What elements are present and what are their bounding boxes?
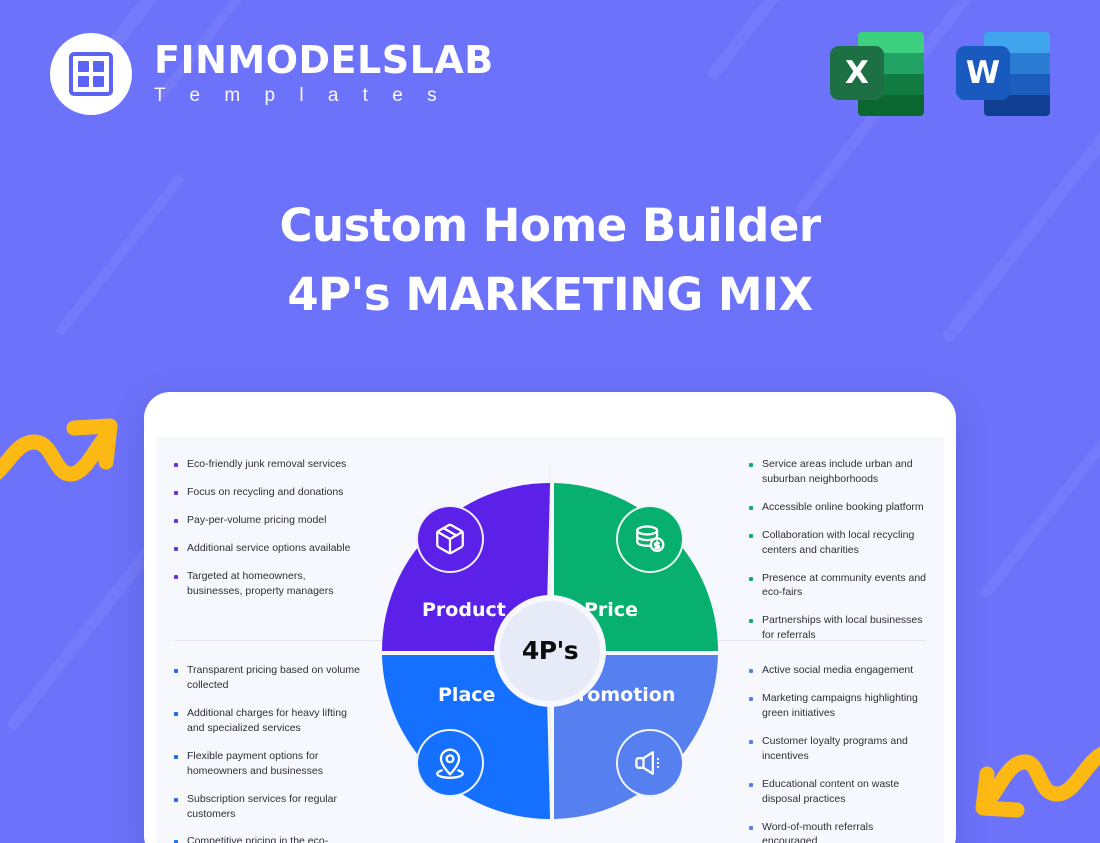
price-bullet-list: Service areas include urban and suburban… xyxy=(725,437,944,643)
list-item: Marketing campaigns highlighting green i… xyxy=(749,691,930,721)
list-item-text: Pay-per-volume pricing model xyxy=(187,513,326,528)
list-item-text: Partnerships with local businesses for r… xyxy=(762,613,930,643)
list-item: Accessible online booking platform xyxy=(749,500,930,515)
bullet-dot-icon xyxy=(174,491,178,495)
segment-label-price: Price xyxy=(584,599,638,621)
list-item-text: Eco-friendly junk removal services xyxy=(187,457,346,472)
coins-dollar-icon[interactable] xyxy=(616,505,684,573)
list-item-text: Accessible online booking platform xyxy=(762,500,924,515)
brand-subtitle: T e m p l a t e s xyxy=(154,85,494,107)
list-item-text: Targeted at homeowners, businesses, prop… xyxy=(187,569,361,599)
wheel-center-label: 4P's xyxy=(522,636,578,665)
grid-squares-icon xyxy=(69,52,113,96)
bullet-dot-icon xyxy=(749,463,753,467)
list-item-text: Subscription services for regular custom… xyxy=(187,792,361,822)
title-block: Custom Home Builder 4P's MARKETING MIX xyxy=(0,196,1100,325)
product-bullet-list: Eco-friendly junk removal services Focus… xyxy=(156,437,375,643)
four-ps-wheel: Product Price Place Promotion xyxy=(376,477,724,825)
bullet-dot-icon xyxy=(174,669,178,673)
list-item-text: Educational content on waste disposal pr… xyxy=(762,777,930,807)
word-letter-badge: W xyxy=(956,46,1010,100)
bullet-dot-icon xyxy=(174,547,178,551)
segment-label-product: Product xyxy=(422,599,506,621)
coins-dollar-glyph xyxy=(633,522,667,556)
bullet-dot-icon xyxy=(749,740,753,744)
list-item-text: Transparent pricing based on volume coll… xyxy=(187,663,361,693)
bullet-dot-icon xyxy=(749,577,753,581)
list-item-text: Additional charges for heavy lifting and… xyxy=(187,706,361,736)
megaphone-icon[interactable] xyxy=(616,729,684,797)
list-item-text: Word-of-mouth referrals encouraged xyxy=(762,820,930,843)
list-item-text: Competitive pricing in the eco-friendly … xyxy=(187,834,361,843)
squiggle-arrow-up-right-icon xyxy=(0,400,127,495)
package-box-icon[interactable] xyxy=(416,505,484,573)
bullet-dot-icon xyxy=(174,798,178,802)
page-subtitle: 4P's MARKETING MIX xyxy=(0,265,1100,324)
list-item-text: Active social media engagement xyxy=(762,663,913,678)
logo-mark-circle xyxy=(50,33,132,115)
list-item: Eco-friendly junk removal services xyxy=(174,457,346,472)
bullet-dot-icon xyxy=(174,463,178,467)
list-item-text: Customer loyalty programs and incentives xyxy=(762,734,930,764)
word-file-icon[interactable]: W xyxy=(956,28,1050,120)
slide-canvas: FINMODELSLAB T e m p l a t e s X W xyxy=(0,0,1100,843)
bullet-dot-icon xyxy=(749,669,753,673)
wheel-column: Product Price Place Promotion xyxy=(375,437,725,843)
place-bullet-list: Transparent pricing based on volume coll… xyxy=(156,643,375,843)
brand-name: FINMODELSLAB xyxy=(154,41,494,81)
excel-file-icon[interactable]: X xyxy=(830,28,924,120)
list-item: Partnerships with local businesses for r… xyxy=(749,613,930,643)
list-item: Additional service options available xyxy=(174,541,350,556)
bullet-dot-icon xyxy=(749,783,753,787)
promotion-bullet-list: Active social media engagement Marketing… xyxy=(725,643,944,843)
bullet-dot-icon xyxy=(749,697,753,701)
list-item: Service areas include urban and suburban… xyxy=(749,457,930,487)
list-item-text: Marketing campaigns highlighting green i… xyxy=(762,691,930,721)
list-item: Transparent pricing based on volume coll… xyxy=(174,663,361,693)
list-item: Educational content on waste disposal pr… xyxy=(749,777,930,807)
list-item: Customer loyalty programs and incentives xyxy=(749,734,930,764)
bullet-dot-icon xyxy=(174,712,178,716)
page-title: Custom Home Builder xyxy=(0,196,1100,255)
list-item-text: Additional service options available xyxy=(187,541,350,556)
package-box-glyph xyxy=(433,522,467,556)
bullet-dot-icon xyxy=(749,619,753,623)
bullet-dot-icon xyxy=(749,506,753,510)
bullet-dot-icon xyxy=(174,519,178,523)
megaphone-glyph xyxy=(633,746,667,780)
list-item: Collaboration with local recycling cente… xyxy=(749,528,930,558)
list-item: Additional charges for heavy lifting and… xyxy=(174,706,361,736)
marketing-mix-diagram: Eco-friendly junk removal services Focus… xyxy=(156,437,944,843)
bullet-dot-icon xyxy=(749,826,753,830)
list-item: Pay-per-volume pricing model xyxy=(174,513,326,528)
list-item: Active social media engagement xyxy=(749,663,930,678)
bullet-dot-icon xyxy=(174,755,178,759)
bullet-dot-icon xyxy=(174,575,178,579)
list-item: Targeted at homeowners, businesses, prop… xyxy=(174,569,361,599)
list-item: Competitive pricing in the eco-friendly … xyxy=(174,834,361,843)
bullet-dot-icon xyxy=(749,534,753,538)
brush-stroke xyxy=(979,372,1100,599)
brand-logo[interactable]: FINMODELSLAB T e m p l a t e s xyxy=(50,33,494,115)
list-item-text: Focus on recycling and donations xyxy=(187,485,343,500)
wheel-center-hub: 4P's xyxy=(500,601,600,701)
brand-text: FINMODELSLAB T e m p l a t e s xyxy=(154,41,494,107)
list-item-text: Service areas include urban and suburban… xyxy=(762,457,930,487)
list-item: Word-of-mouth referrals encouraged xyxy=(749,820,930,843)
list-item: Flexible payment options for homeowners … xyxy=(174,749,361,779)
map-pin-icon[interactable] xyxy=(416,729,484,797)
squiggle-arrow-down-left-icon xyxy=(965,742,1100,837)
list-item: Subscription services for regular custom… xyxy=(174,792,361,822)
list-item-text: Collaboration with local recycling cente… xyxy=(762,528,930,558)
segment-label-place: Place xyxy=(438,684,495,706)
list-item-text: Flexible payment options for homeowners … xyxy=(187,749,361,779)
list-item: Focus on recycling and donations xyxy=(174,485,343,500)
map-pin-glyph xyxy=(433,746,467,780)
list-item: Presence at community events and eco-fai… xyxy=(749,571,930,601)
list-item-text: Presence at community events and eco-fai… xyxy=(762,571,930,601)
excel-letter-badge: X xyxy=(830,46,884,100)
file-format-icons: X W xyxy=(830,28,1050,120)
